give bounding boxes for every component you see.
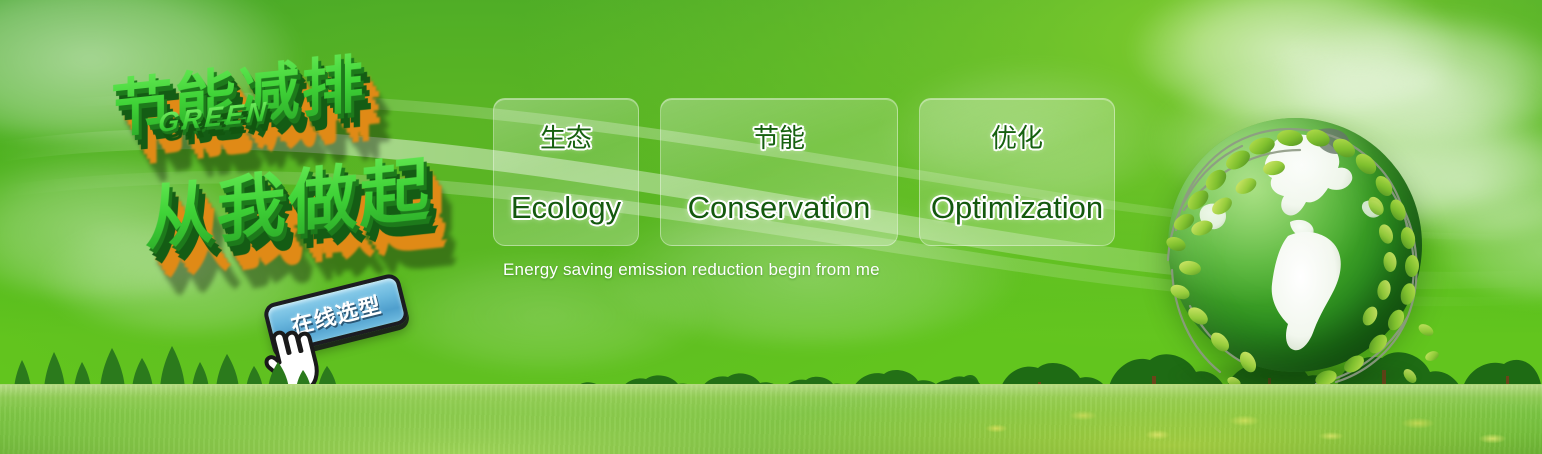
feature-card-list: 生态 Ecology 节能 Conservation 优化 Optimizati…: [493, 98, 1115, 246]
feature-card-en-label: Ecology: [511, 192, 621, 223]
feature-card-en-label: Conservation: [688, 192, 871, 223]
headline-artwork: 节能减排 GREEN 从我做起: [96, 38, 496, 268]
headline-line-2: 从我做起: [145, 133, 431, 265]
leaf-litter-icon: [922, 390, 1542, 454]
feature-card-en-label: Optimization: [931, 192, 1103, 223]
feature-card-conservation[interactable]: 节能 Conservation: [660, 98, 898, 246]
feature-card-cn-label: 生态: [540, 125, 592, 151]
feature-card-optimization[interactable]: 优化 Optimization: [919, 98, 1115, 246]
feature-card-cn-label: 优化: [991, 125, 1043, 151]
banner-tagline: Energy saving emission reduction begin f…: [503, 260, 880, 280]
vine-leaves-icon: [1150, 110, 1440, 410]
feature-card-cn-label: 节能: [753, 125, 805, 151]
leafy-green-globe-icon: [1150, 110, 1440, 410]
headline-line-1: 节能减排: [111, 32, 366, 149]
feature-card-ecology[interactable]: 生态 Ecology: [493, 98, 639, 246]
eco-banner: 节能减排 GREEN 从我做起 生态 Ecology 节能 Conservati…: [0, 0, 1542, 454]
grass-field-icon: [0, 384, 1542, 454]
